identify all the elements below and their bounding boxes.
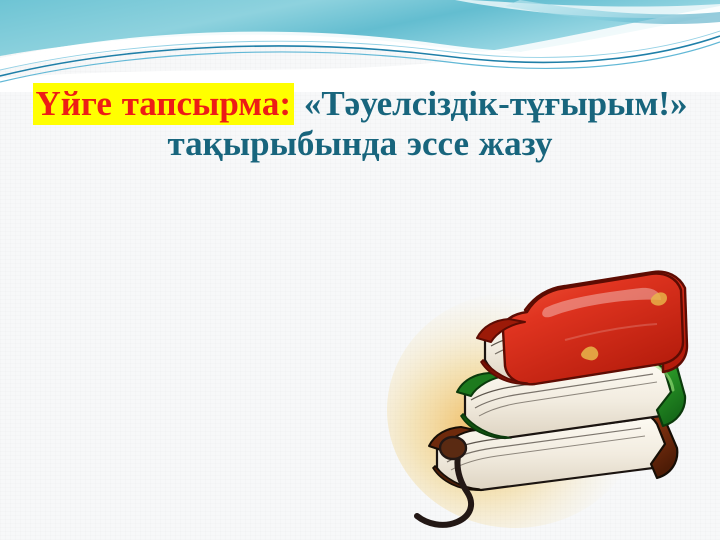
title-body-text <box>294 84 304 123</box>
slide-title: Үйге тапсырма: «Тәуелсіздік-тұғырым!» та… <box>22 84 698 163</box>
stack-of-books-icon <box>385 250 695 538</box>
presentation-slide: Үйге тапсырма: «Тәуелсіздік-тұғырым!» та… <box>0 0 720 540</box>
ribbon-knot <box>440 437 466 459</box>
homework-label: Үйге тапсырма: <box>33 83 295 125</box>
header-wave-banner <box>0 0 720 92</box>
